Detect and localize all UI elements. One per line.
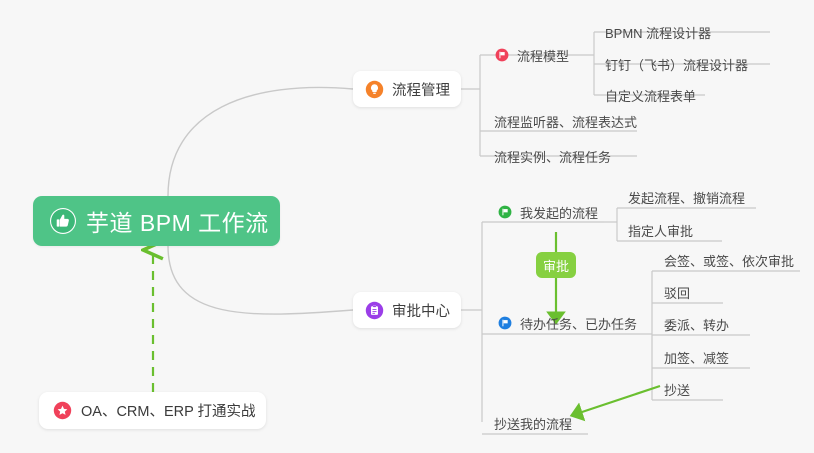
node-label-bpmn-designer: BPMN 流程设计器 [605,23,711,42]
node-label-my-started-flows: 我发起的流程 [520,203,598,222]
callout-label-integration: OA、CRM、ERP 打通实战 [81,400,256,421]
branch-label-approval-center: 审批中心 [392,300,450,321]
root-node[interactable]: 芋道 BPM 工作流 [33,196,280,246]
node-label-reject: 驳回 [664,283,690,302]
node-label-countersign: 会签、或签、依次审批 [664,251,794,270]
node-delegate-transfer[interactable]: 委派、转办 [660,313,733,335]
node-todo-done-tasks[interactable]: 待办任务、已办任务 [494,312,641,334]
flag-icon [498,316,512,330]
flag-icon [495,48,509,62]
node-label-todo-done-tasks: 待办任务、已办任务 [520,314,637,333]
node-carbon-copy[interactable]: 抄送 [660,378,694,400]
node-label-process-model: 流程模型 [517,46,569,65]
branch-node-approval-center[interactable]: 审批中心 [353,292,461,328]
root-label: 芋道 BPM 工作流 [86,204,269,238]
node-label-add-remove-sign: 加签、减签 [664,348,729,367]
node-custom-form[interactable]: 自定义流程表单 [601,84,700,106]
wire-root-to-flow-management [168,87,353,196]
thumbs-up-icon [50,208,76,234]
node-process-listener[interactable]: 流程监听器、流程表达式 [490,110,641,132]
node-label-process-instance: 流程实例、流程任务 [494,147,611,166]
node-label-start-cancel-flow: 发起流程、撤销流程 [628,188,745,207]
node-reject[interactable]: 驳回 [660,281,694,303]
branch-label-flow-management: 流程管理 [392,79,450,100]
node-label-carbon-copy: 抄送 [664,380,690,399]
lightbulb-icon [365,80,384,99]
node-add-remove-sign[interactable]: 加签、减签 [660,346,733,368]
callout-card-integration[interactable]: OA、CRM、ERP 打通实战 [39,392,266,429]
node-bpmn-designer[interactable]: BPMN 流程设计器 [601,21,715,43]
node-process-model[interactable]: 流程模型 [491,44,573,66]
node-label-dingtalk-designer: 钉钉（飞书）流程设计器 [605,55,748,74]
node-label-cc-to-me-flows: 抄送我的流程 [494,414,572,433]
node-my-started-flows[interactable]: 我发起的流程 [494,201,602,223]
node-label-process-listener: 流程监听器、流程表达式 [494,112,637,131]
flag-icon [498,205,512,219]
node-process-instance[interactable]: 流程实例、流程任务 [490,145,615,167]
wire-root-to-approval-center [168,246,353,314]
node-start-cancel-flow[interactable]: 发起流程、撤销流程 [624,186,749,208]
node-label-delegate-transfer: 委派、转办 [664,315,729,334]
node-label-assignee-approval: 指定人审批 [628,221,693,240]
branch-node-flow-management[interactable]: 流程管理 [353,71,461,107]
node-cc-to-me-flows[interactable]: 抄送我的流程 [490,412,576,434]
node-dingtalk-designer[interactable]: 钉钉（飞书）流程设计器 [601,53,752,75]
node-countersign[interactable]: 会签、或签、依次审批 [660,249,798,271]
clipboard-icon [365,301,384,320]
node-assignee-approval[interactable]: 指定人审批 [624,219,697,241]
approval-flow-badge: 审批 [536,252,576,278]
node-label-custom-form: 自定义流程表单 [605,86,696,105]
approval-flow-badge-label: 审批 [543,256,569,275]
green-arrow-cc-to-ccflow [576,386,660,414]
mindmap-canvas: 芋道 BPM 工作流 流程管理 审批中心 [0,0,814,453]
star-icon [53,401,72,420]
